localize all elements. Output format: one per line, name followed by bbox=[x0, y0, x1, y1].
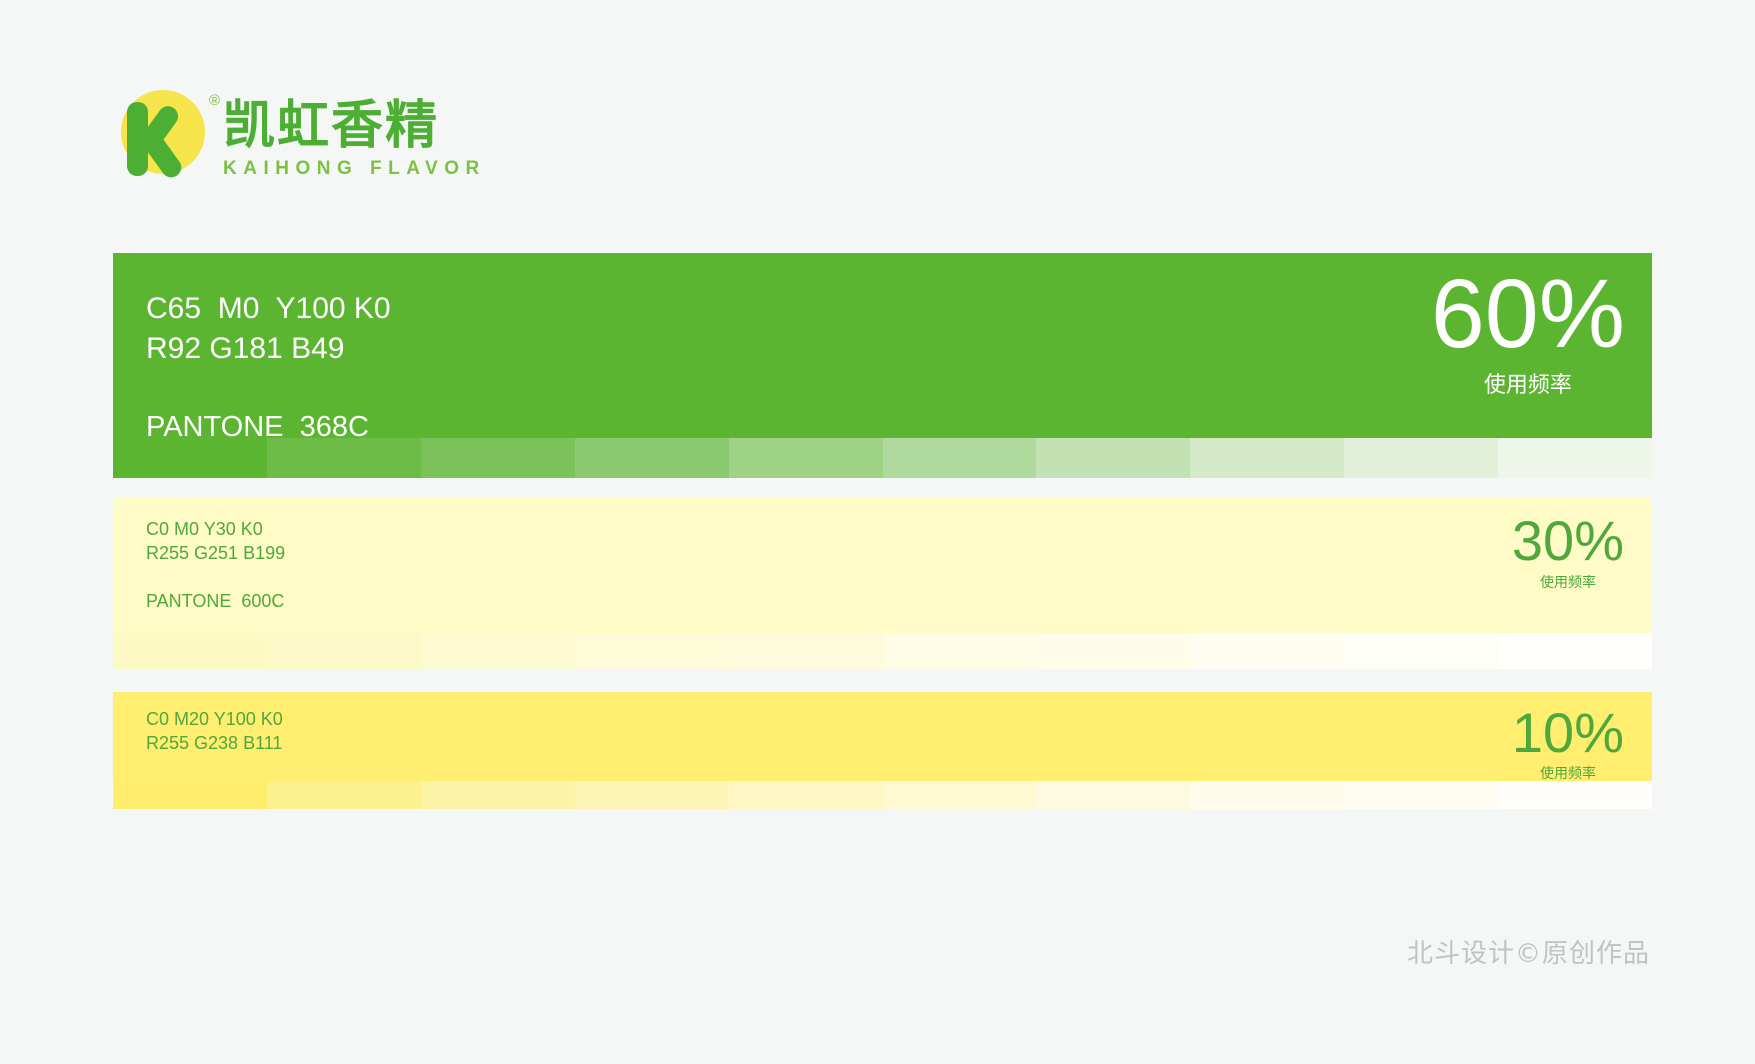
usage-percent: 30% bbox=[1512, 514, 1624, 567]
logo-k-mark-icon bbox=[113, 86, 211, 184]
color-swatch-secondary-cream: C0 M0 Y30 K0 R255 G251 B199 PANTONE 600C… bbox=[113, 498, 1652, 669]
usage-frequency-label: 使用频率 bbox=[1512, 572, 1624, 592]
brand-logo: 凯虹香精 ® KAIHONG FLAVOR bbox=[113, 86, 486, 184]
color-panel-secondary-cream: C0 M0 Y30 K0 R255 G251 B199 PANTONE 600C… bbox=[113, 498, 1652, 669]
usage-frequency-secondary-cream: 30% 使用频率 bbox=[1512, 514, 1624, 592]
tint-swatch-8 bbox=[1190, 633, 1344, 669]
logo-k-letter-icon bbox=[113, 86, 211, 184]
tint-swatch-7 bbox=[1036, 633, 1190, 669]
color-panel-accent-yellow: C0 M20 Y100 K0 R255 G238 B111 PANTONE 20… bbox=[113, 692, 1652, 809]
color-spec-secondary-cream: C0 M0 Y30 K0 R255 G251 B199 PANTONE 600C bbox=[146, 518, 285, 612]
tint-swatch-2 bbox=[267, 633, 421, 669]
tint-swatch-7 bbox=[1036, 781, 1190, 809]
tint-swatch-6 bbox=[883, 633, 1037, 669]
footer-credit: 北斗设计©原创作品 bbox=[1407, 933, 1650, 970]
cmyk-value: C0 M0 Y30 K0 bbox=[146, 518, 285, 542]
tint-strip-secondary-cream bbox=[113, 633, 1652, 669]
tint-swatch-3 bbox=[421, 781, 575, 809]
tint-swatch-1 bbox=[113, 781, 267, 809]
usage-frequency-primary-green: 60% 使用频率 bbox=[1431, 268, 1625, 399]
tint-swatch-4 bbox=[575, 633, 729, 669]
tint-swatch-10 bbox=[1498, 781, 1652, 809]
tint-swatch-6 bbox=[883, 438, 1037, 478]
color-swatch-primary-green: C65 M0 Y100 K0 R92 G181 B49 PANTONE 368C… bbox=[113, 253, 1652, 478]
tint-swatch-9 bbox=[1344, 633, 1498, 669]
tint-swatch-3 bbox=[421, 633, 575, 669]
usage-percent: 10% bbox=[1512, 706, 1624, 759]
rgb-value: R255 G238 B111 bbox=[146, 732, 294, 756]
tint-swatch-8 bbox=[1190, 781, 1344, 809]
tint-strip-primary-green bbox=[113, 438, 1652, 478]
color-swatch-accent-yellow: C0 M20 Y100 K0 R255 G238 B111 PANTONE 20… bbox=[113, 692, 1652, 809]
logo-english-name: KAIHONG FLAVOR bbox=[223, 158, 486, 180]
tint-swatch-4 bbox=[575, 781, 729, 809]
tint-swatch-8 bbox=[1190, 438, 1344, 478]
cmyk-value: C65 M0 Y100 K0 bbox=[146, 289, 391, 329]
tint-swatch-2 bbox=[267, 438, 421, 478]
tint-swatch-1 bbox=[113, 438, 267, 478]
tint-strip-accent-yellow bbox=[113, 781, 1652, 809]
tint-swatch-6 bbox=[883, 781, 1037, 809]
tint-swatch-10 bbox=[1498, 633, 1652, 669]
cmyk-value: C0 M20 Y100 K0 bbox=[146, 708, 294, 732]
color-panel-primary-green: C65 M0 Y100 K0 R92 G181 B49 PANTONE 368C… bbox=[113, 253, 1652, 478]
color-spec-primary-green: C65 M0 Y100 K0 R92 G181 B49 PANTONE 368C bbox=[146, 289, 391, 444]
registered-trademark-icon: ® bbox=[209, 92, 220, 109]
tint-swatch-5 bbox=[729, 781, 883, 809]
usage-frequency-label: 使用频率 bbox=[1431, 367, 1625, 399]
tint-swatch-7 bbox=[1036, 438, 1190, 478]
rgb-value: R92 G181 B49 bbox=[146, 329, 391, 369]
usage-percent: 60% bbox=[1431, 268, 1625, 360]
tint-swatch-5 bbox=[729, 438, 883, 478]
tint-swatch-2 bbox=[267, 781, 421, 809]
tint-swatch-3 bbox=[421, 438, 575, 478]
tint-swatch-9 bbox=[1344, 781, 1498, 809]
tint-swatch-5 bbox=[729, 633, 883, 669]
rgb-value: R255 G251 B199 bbox=[146, 542, 285, 566]
tint-swatch-9 bbox=[1344, 438, 1498, 478]
tint-swatch-4 bbox=[575, 438, 729, 478]
usage-frequency-accent-yellow: 10% 使用频率 bbox=[1512, 706, 1624, 783]
pantone-value: PANTONE 600C bbox=[146, 591, 285, 612]
tint-swatch-1 bbox=[113, 633, 267, 669]
tint-swatch-10 bbox=[1498, 438, 1652, 478]
logo-chinese-name: 凯虹香精 bbox=[223, 100, 486, 152]
